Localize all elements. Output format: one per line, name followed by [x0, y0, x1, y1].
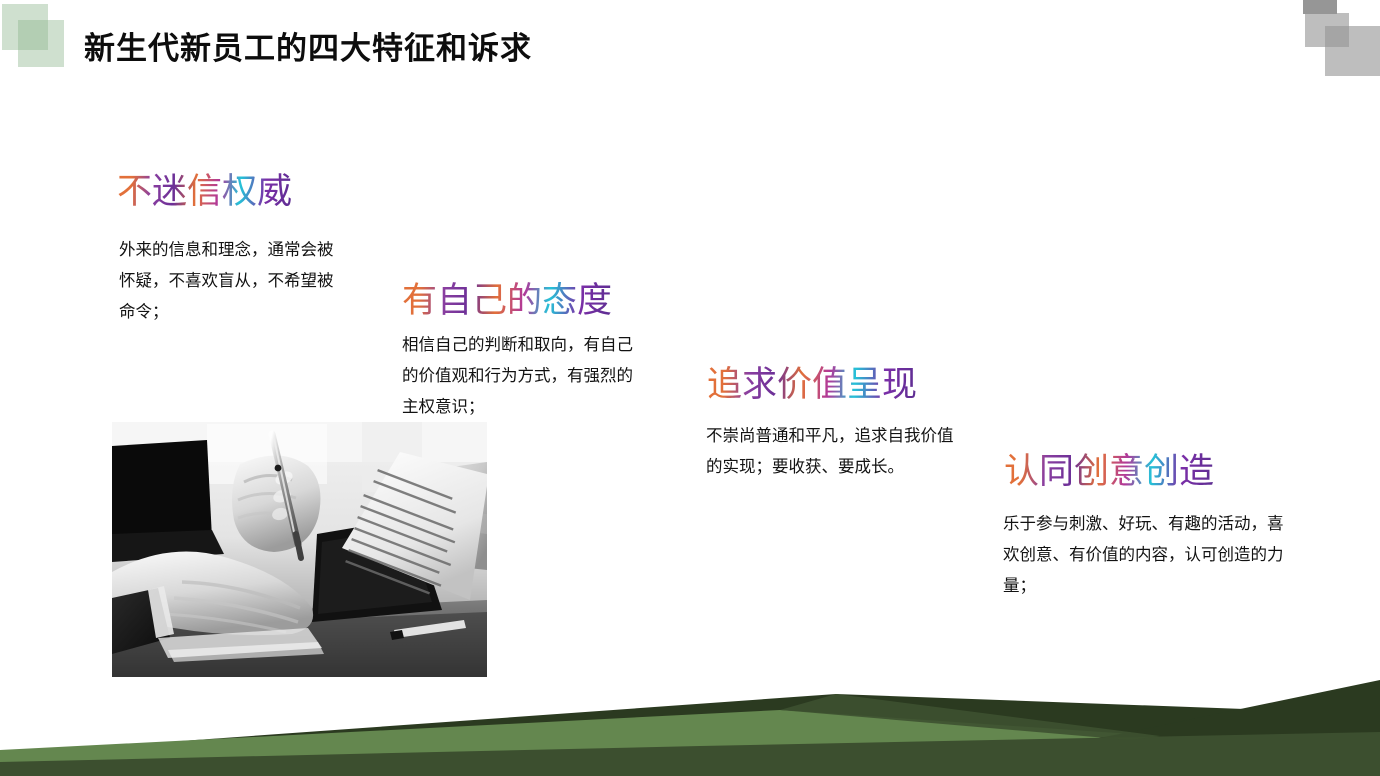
- business-handover-photo: [112, 422, 487, 677]
- feature-body-2: 相信自己的判断和取向，有自己的价值观和行为方式，有强烈的主权意识；: [402, 329, 634, 422]
- mountains-artwork: [0, 666, 1380, 776]
- decorative-green-mountains: [0, 666, 1380, 776]
- slide-canvas: 新生代新员工的四大特征和诉求 不迷信权威 外来的信息和理念，通常会被怀疑，不喜欢…: [0, 0, 1380, 776]
- decorative-gray-square-front: [1325, 26, 1380, 76]
- feature-heading-4: 认同创意创造: [1004, 443, 1214, 494]
- feature-body-3: 不崇尚普通和平凡，追求自我价值的实现；要收获、要成长。: [706, 420, 954, 482]
- page-title: 新生代新员工的四大特征和诉求: [84, 23, 532, 68]
- photo-artwork: [112, 422, 487, 677]
- feature-heading-2: 有自己的态度: [402, 272, 612, 323]
- feature-body-1: 外来的信息和理念，通常会被怀疑，不喜欢盲从，不希望被命令；: [119, 234, 341, 327]
- feature-heading-3: 追求价值呈现: [707, 356, 917, 407]
- feature-body-4: 乐于参与刺激、好玩、有趣的活动，喜欢创意、有价值的内容，认可创造的力量；: [1003, 508, 1291, 601]
- decorative-green-square-front: [18, 20, 64, 67]
- decorative-gray-square-small: [1303, 0, 1337, 14]
- feature-heading-1: 不迷信权威: [117, 163, 292, 214]
